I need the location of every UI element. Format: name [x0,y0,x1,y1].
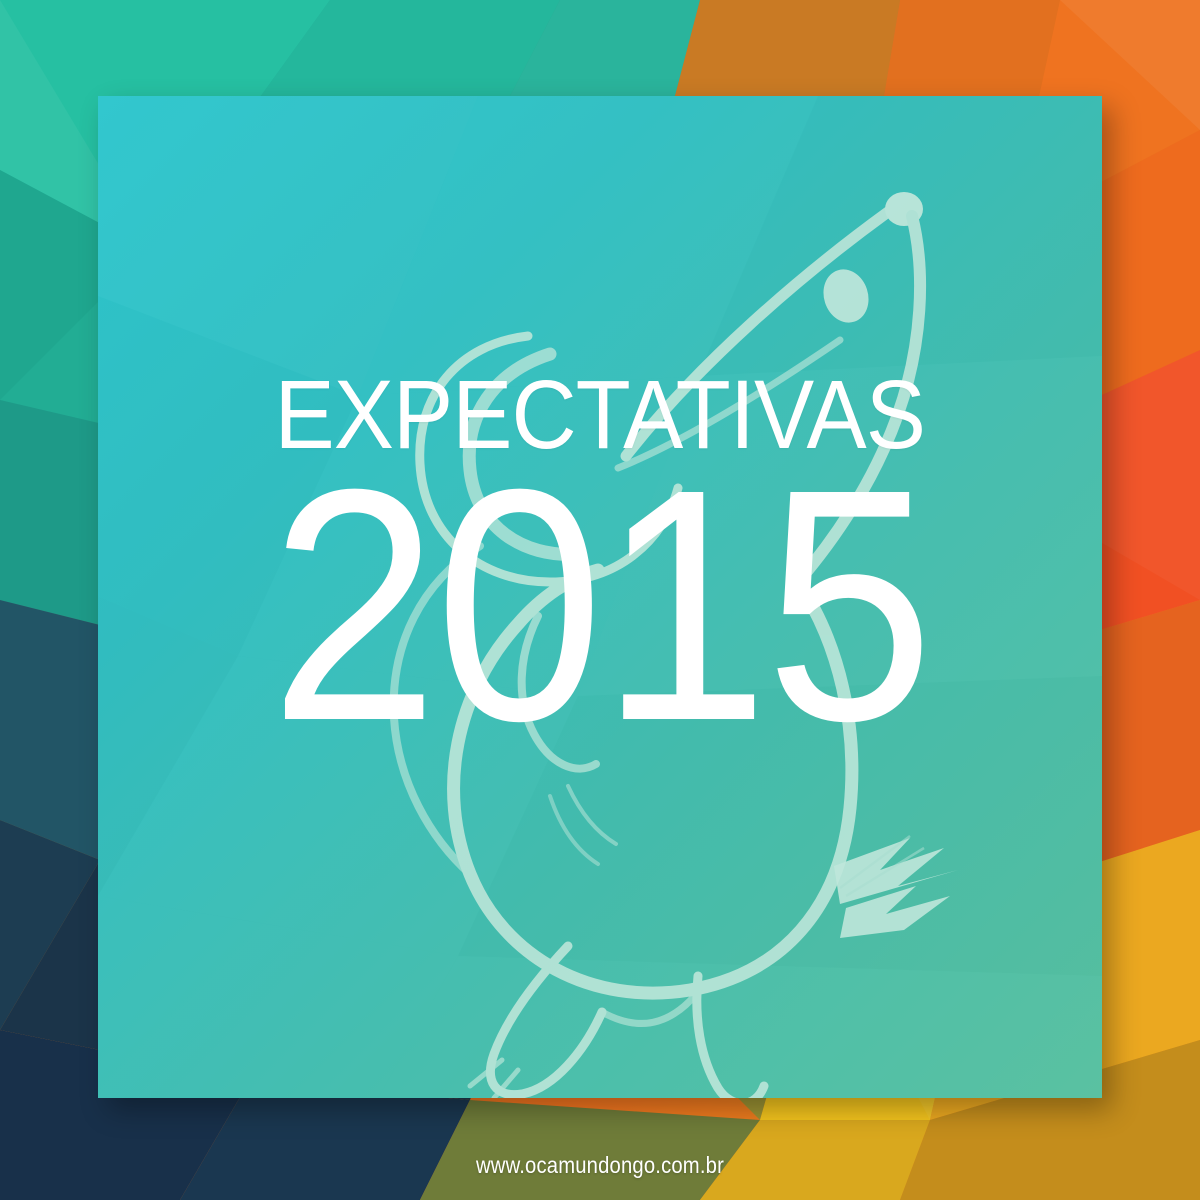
mouse-tail [834,838,958,938]
poster-card: EXPECTATIVAS 2015 [98,96,1102,1098]
mouse-line-drawing [98,96,1102,1098]
page-title: EXPECTATIVAS [275,368,926,461]
poster-canvas: EXPECTATIVAS 2015 www.ocamundongo.com.br [0,0,1200,1200]
card-facet-overlay [98,96,1102,1098]
poster-text-block: EXPECTATIVAS 2015 [98,96,1102,1098]
website-url[interactable]: www.ocamundongo.com.br [72,1152,1128,1179]
year-title: 2015 [270,453,931,757]
